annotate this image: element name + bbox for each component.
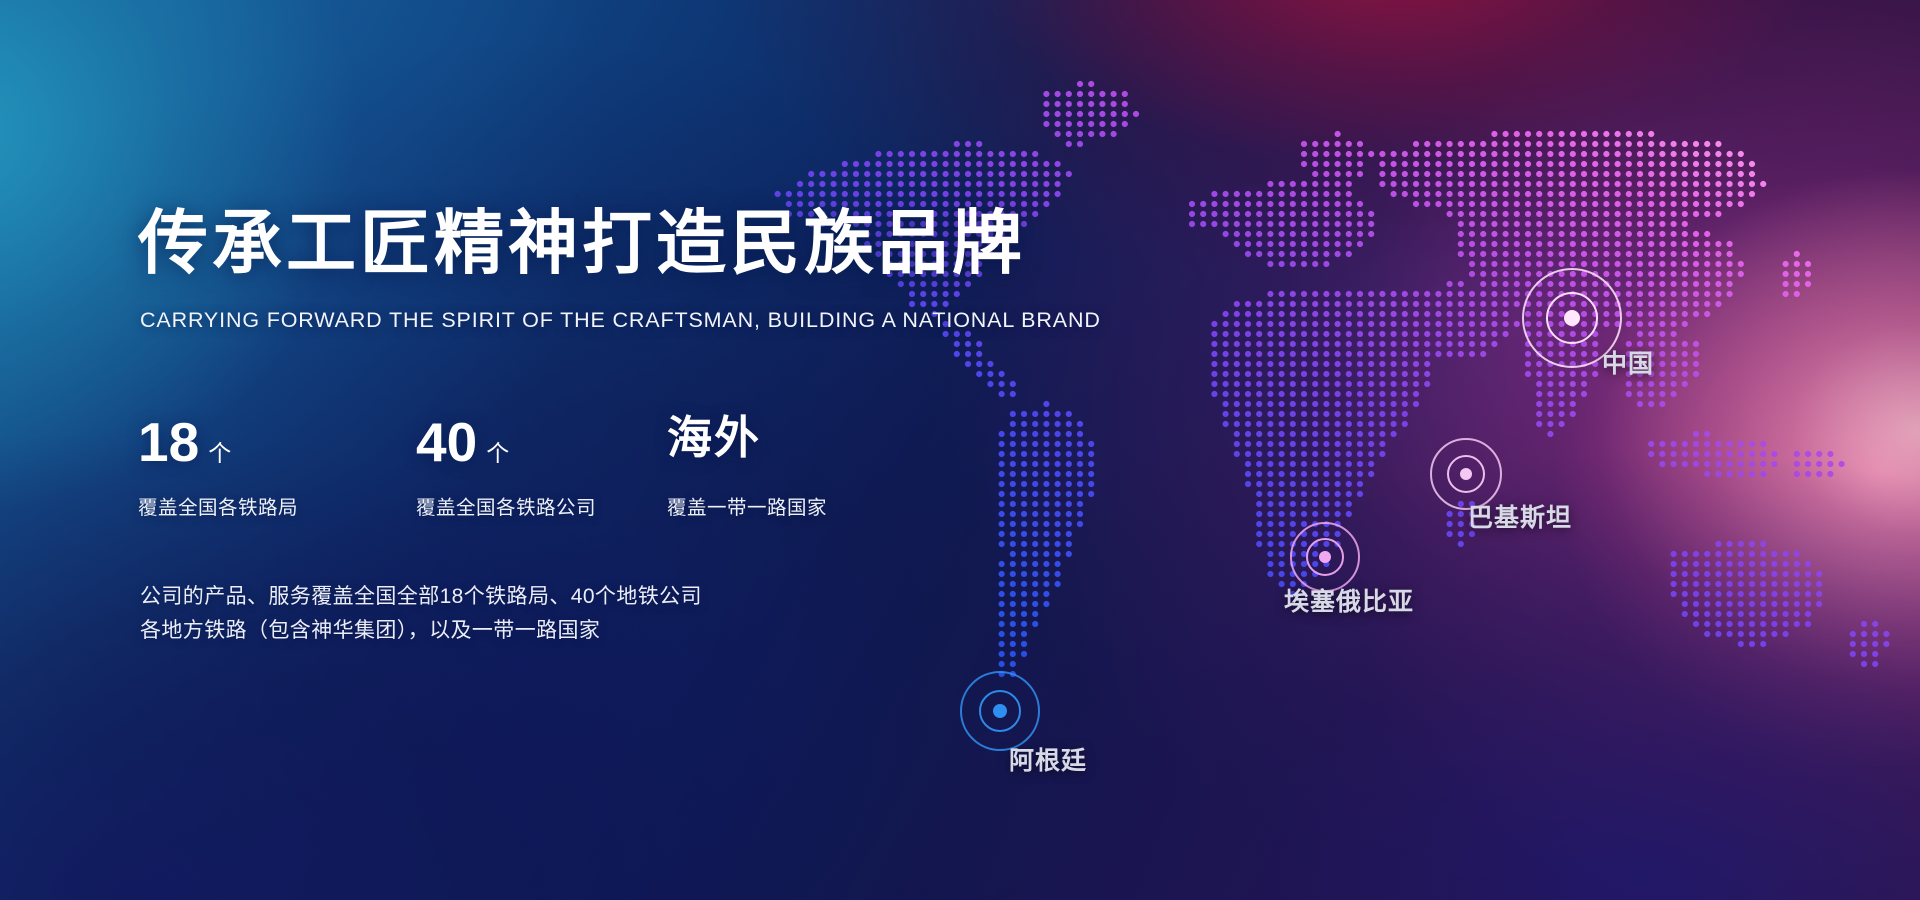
marker-core-icon bbox=[1564, 310, 1580, 326]
hero-banner: 中国巴基斯坦埃塞俄比亚阿根廷 传承工匠精神打造民族品牌 CARRYING FOR… bbox=[0, 0, 1920, 900]
page-subtitle: CARRYING FORWARD THE SPIRIT OF THE CRAFT… bbox=[140, 308, 1101, 333]
stat-item: 40个覆盖全国各铁路公司 bbox=[416, 415, 667, 520]
stat-value: 40 bbox=[416, 415, 477, 470]
stat-value-row: 海外 bbox=[667, 415, 907, 477]
stat-value-row: 40个 bbox=[416, 415, 667, 477]
page-title: 传承工匠精神打造民族品牌 bbox=[138, 208, 1026, 278]
stat-unit: 个 bbox=[486, 442, 509, 465]
marker-label: 埃塞俄比亚 bbox=[1284, 582, 1414, 618]
marker-label: 巴基斯坦 bbox=[1468, 498, 1572, 534]
stat-item: 海外覆盖一带一路国家 bbox=[667, 415, 907, 520]
description-block: 公司的产品、服务覆盖全国全部18个铁路局、40个地铁公司 各地方铁路（包含神华集… bbox=[140, 580, 702, 648]
stat-unit: 个 bbox=[208, 442, 231, 465]
stat-label: 覆盖一带一路国家 bbox=[667, 491, 907, 520]
stat-value: 18 bbox=[138, 415, 199, 470]
description-line-2: 各地方铁路（包含神华集团），以及一带一路国家 bbox=[140, 614, 702, 648]
marker-label: 中国 bbox=[1602, 344, 1654, 380]
stat-value: 海外 bbox=[667, 415, 761, 460]
marker-core-icon bbox=[1319, 551, 1331, 563]
stat-value-row: 18个 bbox=[138, 415, 416, 477]
stat-label: 覆盖全国各铁路公司 bbox=[416, 491, 667, 520]
stat-label: 覆盖全国各铁路局 bbox=[138, 491, 416, 520]
hero-content: 传承工匠精神打造民族品牌 CARRYING FORWARD THE SPIRIT… bbox=[138, 0, 1038, 900]
description-line-1: 公司的产品、服务覆盖全国全部18个铁路局、40个地铁公司 bbox=[140, 580, 702, 614]
stat-item: 18个覆盖全国各铁路局 bbox=[138, 415, 416, 520]
statistics-row: 18个覆盖全国各铁路局40个覆盖全国各铁路公司海外覆盖一带一路国家 bbox=[138, 415, 907, 520]
marker-core-icon bbox=[1460, 468, 1472, 480]
